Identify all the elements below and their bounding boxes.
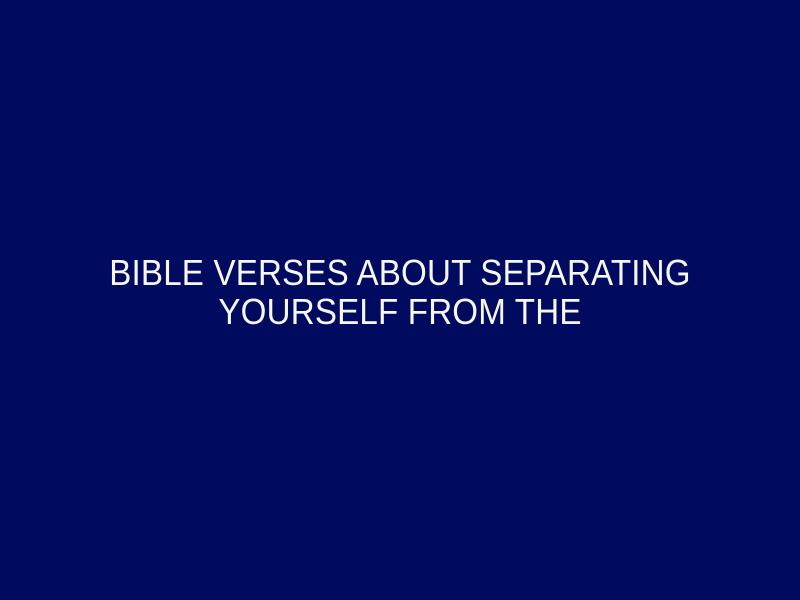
headline-container: BIBLE VERSES ABOUT SEPARATING YOURSELF F… bbox=[55, 253, 745, 331]
page-title: BIBLE VERSES ABOUT SEPARATING YOURSELF F… bbox=[83, 253, 718, 331]
title-card: BIBLE VERSES ABOUT SEPARATING YOURSELF F… bbox=[0, 0, 800, 600]
